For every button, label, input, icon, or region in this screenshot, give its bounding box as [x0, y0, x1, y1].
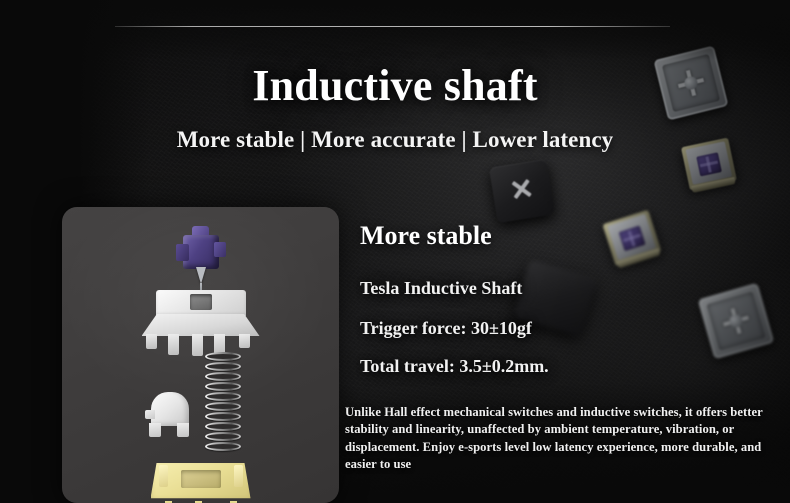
spec-line-total-travel: Total travel: 3.5±0.2mm. — [360, 356, 549, 377]
spec-line-trigger-force: Trigger force: 30±10gf — [360, 318, 532, 339]
page-subtitle: More stable | More accurate | Lower late… — [0, 127, 790, 153]
description-paragraph: Unlike Hall effect mechanical switches a… — [345, 404, 777, 473]
header-divider-rule — [115, 26, 670, 27]
exploded-diagram-panel — [62, 207, 339, 503]
diagram-part-top-housing — [142, 290, 260, 354]
diagram-part-spring — [205, 352, 241, 458]
promo-banner: Inductive shaft More stable | More accur… — [0, 0, 790, 503]
section-heading: More stable — [360, 221, 492, 251]
page-title: Inductive shaft — [0, 60, 790, 111]
diagram-part-stem — [173, 225, 229, 283]
cross-mount-icon — [506, 174, 537, 205]
spec-line-model: Tesla Inductive Shaft — [360, 278, 522, 299]
diagram-part-base — [147, 459, 255, 503]
keycap-dark-center — [489, 159, 555, 223]
diagram-part-slider — [145, 392, 195, 438]
